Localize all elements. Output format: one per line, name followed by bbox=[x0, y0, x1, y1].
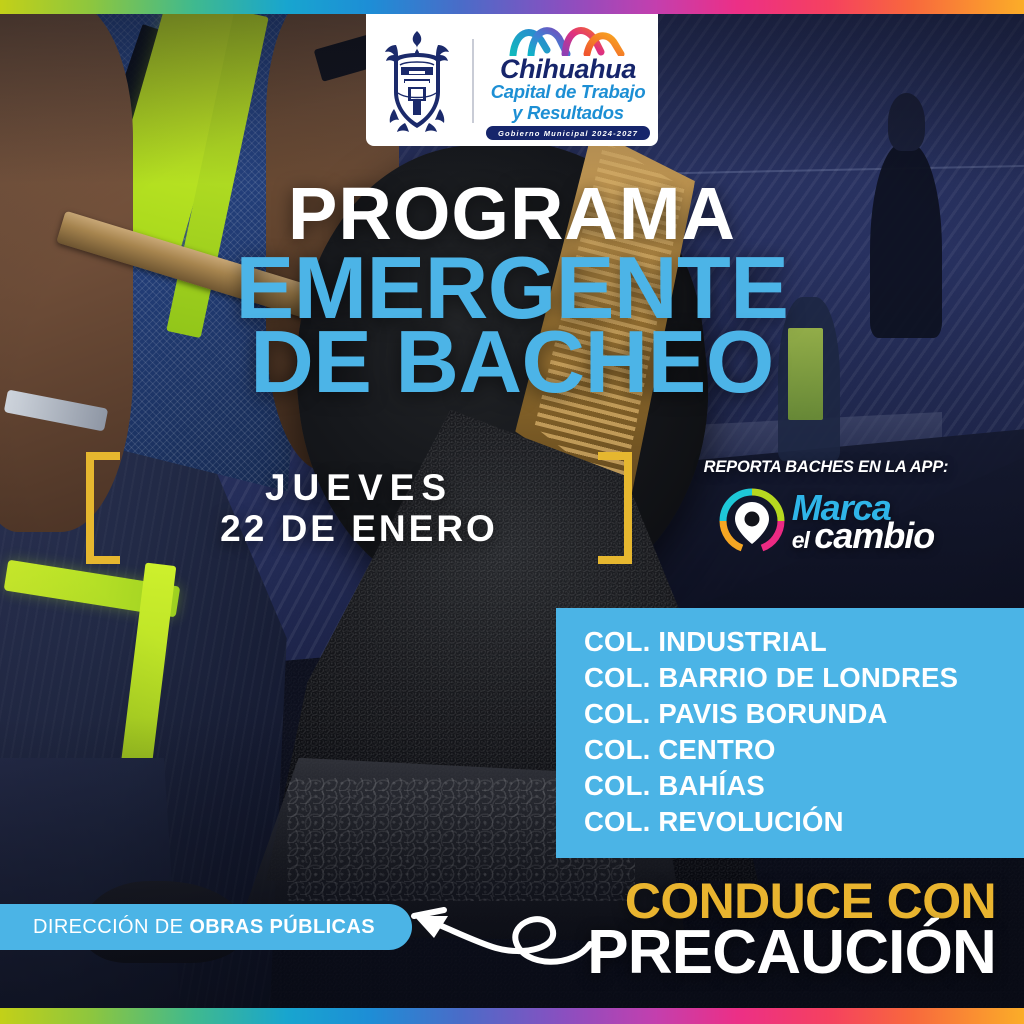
date-block: JUEVES 22 DE ENERO bbox=[86, 452, 632, 564]
cta-block: CONDUCE CON PRECAUCIÓN bbox=[587, 877, 996, 984]
date-text: JUEVES 22 DE ENERO bbox=[220, 467, 498, 550]
top-gradient-rail bbox=[0, 0, 1024, 14]
department-name: OBRAS PÚBLICAS bbox=[189, 916, 375, 938]
bottom-gradient-rail bbox=[0, 1008, 1024, 1024]
cta-line-2: PRECAUCIÓN bbox=[587, 923, 996, 984]
curved-arrow-icon bbox=[404, 872, 600, 968]
chihuahua-arcs-icon bbox=[509, 22, 627, 56]
logo-divider bbox=[472, 39, 474, 123]
bracket-left-icon bbox=[86, 452, 120, 564]
date-day-month: 22 DE ENERO bbox=[220, 508, 498, 549]
list-item: COL. BAHÍAS bbox=[584, 768, 1024, 804]
date-weekday: JUEVES bbox=[220, 467, 498, 508]
list-item: COL. REVOLUCIÓN bbox=[584, 804, 1024, 840]
poster-canvas: Chihuahua Capital de Trabajo y Resultado… bbox=[0, 0, 1024, 1024]
app-name-line-2: el cambio bbox=[792, 521, 935, 551]
department-label: DIRECCIÓN DE OBRAS PÚBLICAS bbox=[33, 916, 375, 939]
department-prefix: DIRECCIÓN DE bbox=[33, 916, 189, 938]
chihuahua-wordmark: Chihuahua Capital de Trabajo y Resultado… bbox=[486, 22, 650, 140]
bracket-right-icon bbox=[598, 452, 632, 564]
government-logo-card: Chihuahua Capital de Trabajo y Resultado… bbox=[366, 14, 658, 146]
app-name: Marca el cambio bbox=[792, 493, 935, 550]
tagline-line-2: y Resultados bbox=[512, 103, 624, 122]
list-item: COL. CENTRO bbox=[584, 732, 1024, 768]
app-promo-block: REPORTA BACHES EN LA APP: Marca el cambi… bbox=[686, 458, 966, 557]
shield-icon bbox=[374, 27, 460, 135]
department-pill: DIRECCIÓN DE OBRAS PÚBLICAS bbox=[0, 904, 412, 950]
headline-block: PROGRAMA EMERGENTE DE BACHEO bbox=[0, 178, 1024, 406]
list-item: COL. INDUSTRIAL bbox=[584, 624, 1024, 660]
app-promo-label: REPORTA BACHES EN LA APP: bbox=[686, 458, 966, 477]
app-name-article: el bbox=[792, 527, 815, 553]
marca-el-cambio-logo[interactable]: Marca el cambio bbox=[686, 487, 966, 557]
city-name: Chihuahua bbox=[500, 57, 636, 82]
map-pin-icon bbox=[718, 487, 786, 557]
list-item: COL. BARRIO DE LONDRES bbox=[584, 660, 1024, 696]
app-name-word: cambio bbox=[814, 515, 934, 556]
colonias-panel: COL. INDUSTRIAL COL. BARRIO DE LONDRES C… bbox=[556, 608, 1024, 858]
list-item: COL. PAVIS BORUNDA bbox=[584, 696, 1024, 732]
headline-line-3: DE BACHEO bbox=[0, 319, 1024, 405]
tagline-line-1: Capital de Trabajo bbox=[491, 83, 646, 102]
government-period-badge: Gobierno Municipal 2024-2027 bbox=[486, 126, 650, 140]
